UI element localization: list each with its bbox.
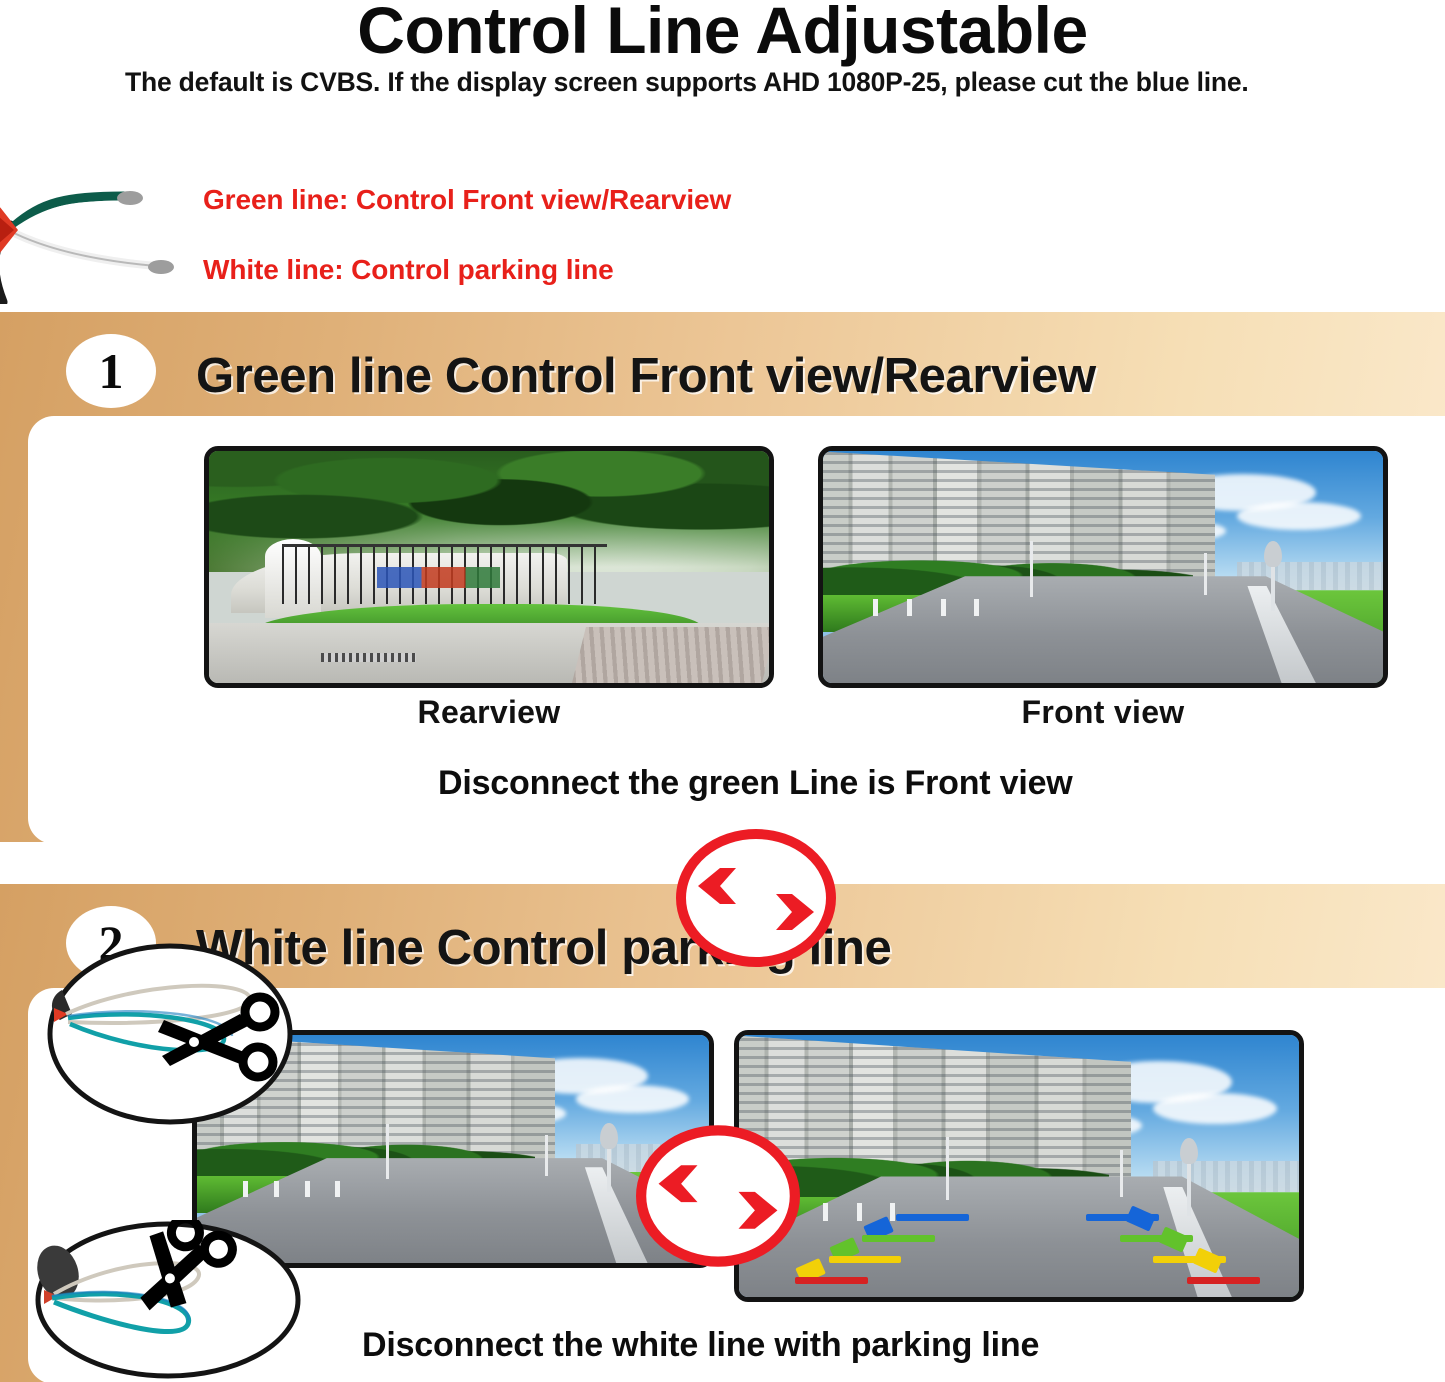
guide-yellow-left (829, 1256, 902, 1263)
guide-red-right (1187, 1277, 1260, 1284)
parking-guide-overlay (739, 1035, 1299, 1297)
guide-blue-left (896, 1214, 969, 1221)
panel-rearview-label: Rearview (204, 694, 774, 731)
panel-with-parking-lines (734, 1030, 1304, 1302)
scene-gate-rearview (209, 451, 769, 683)
page-title: Control Line Adjustable (0, 0, 1445, 68)
section-2-caption: Disconnect the white line with parking l… (362, 1326, 1039, 1365)
white-line-note: White line: Control parking line (203, 254, 614, 286)
header-block: Control Line Adjustable The default is C… (0, 0, 1445, 312)
guide-red-left (795, 1277, 868, 1284)
infographic-page: Control Line Adjustable The default is C… (0, 0, 1445, 1382)
section-1-caption: Disconnect the green Line is Front view (438, 764, 1073, 803)
section-1-number-badge: 1 (66, 334, 156, 408)
scissors-cut-green-wire-icon (44, 942, 296, 1126)
subtitle-text: The default is CVBS. If the display scre… (125, 66, 1385, 98)
panel-rearview (204, 446, 774, 688)
swap-arrows-icon (636, 1124, 800, 1268)
guide-yellow-right-stem (1192, 1247, 1223, 1273)
guide-green-left (862, 1235, 935, 1242)
scissors-cut-white-wire-icon (32, 1220, 304, 1380)
wire-harness-icon (0, 186, 186, 304)
scene-road-frontview (823, 451, 1383, 683)
scene-road-parking (739, 1035, 1299, 1297)
panel-frontview (818, 446, 1388, 688)
panel-frontview-label: Front view (818, 694, 1388, 731)
green-line-note: Green line: Control Front view/Rearview (203, 184, 731, 216)
guide-green-right-stem (1158, 1226, 1189, 1252)
guide-blue-right-stem (1125, 1205, 1156, 1231)
section-1-title: Green line Control Front view/Rearview (196, 348, 1096, 404)
swap-arrows-icon (676, 828, 836, 968)
section-green-line: 1 Green line Control Front view/Rearview (0, 312, 1445, 842)
